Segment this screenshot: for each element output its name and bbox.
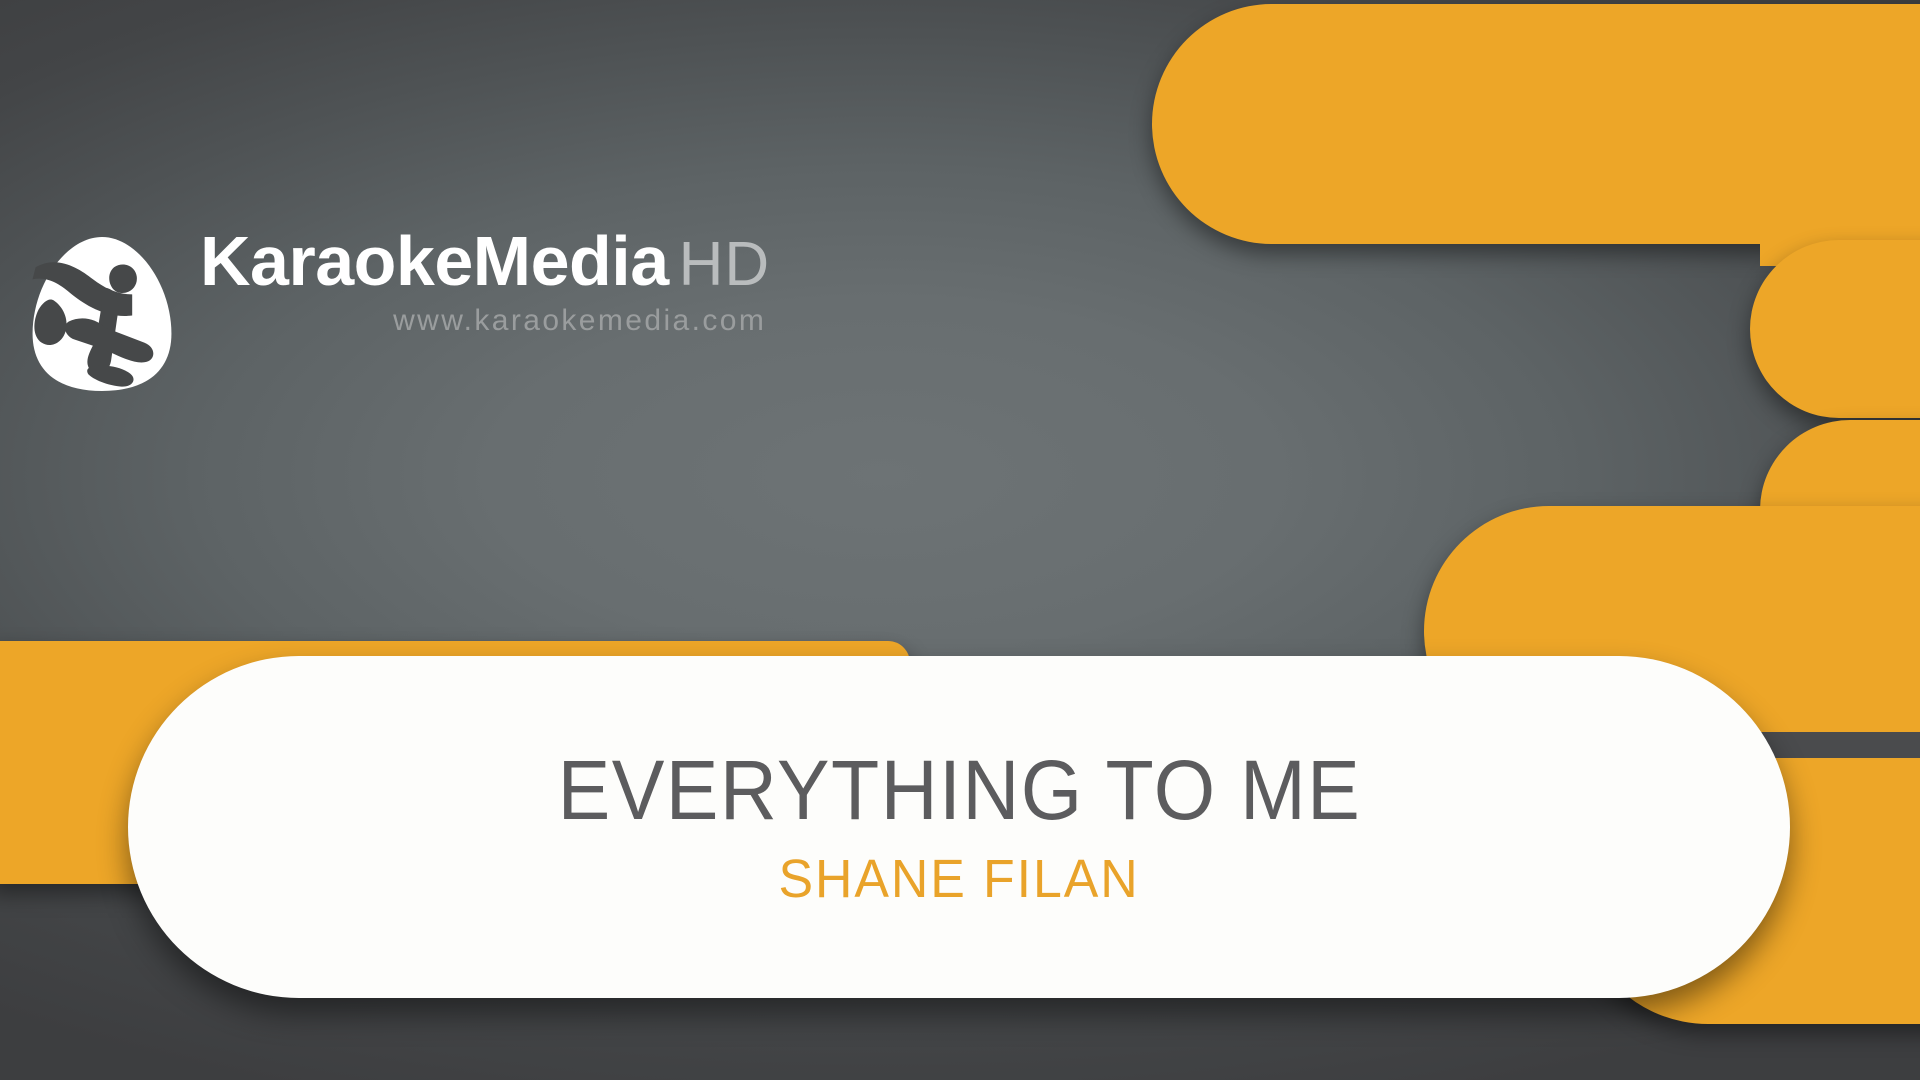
- karaoke-singer-logo-icon: [26, 234, 178, 394]
- orange-pill-top: [1152, 4, 1920, 244]
- song-title: EVERYTHING TO ME: [557, 748, 1361, 832]
- brand-logo: KaraokeMedia HD www.karaokemedia.com: [26, 222, 770, 394]
- brand-quality-tag: HD: [679, 234, 771, 296]
- brand-url: www.karaokemedia.com: [200, 304, 766, 338]
- brand-title-line: KaraokeMedia HD: [200, 226, 770, 296]
- artist-name: SHANE FILAN: [778, 852, 1139, 906]
- brand-name: KaraokeMedia: [200, 226, 669, 296]
- brand-text: KaraokeMedia HD www.karaokemedia.com: [200, 226, 770, 338]
- orange-pill-right-upper: [1750, 240, 1920, 418]
- karaoke-title-screen: KaraokeMedia HD www.karaokemedia.com EVE…: [0, 0, 1920, 1080]
- song-info-card: EVERYTHING TO ME SHANE FILAN: [128, 656, 1790, 998]
